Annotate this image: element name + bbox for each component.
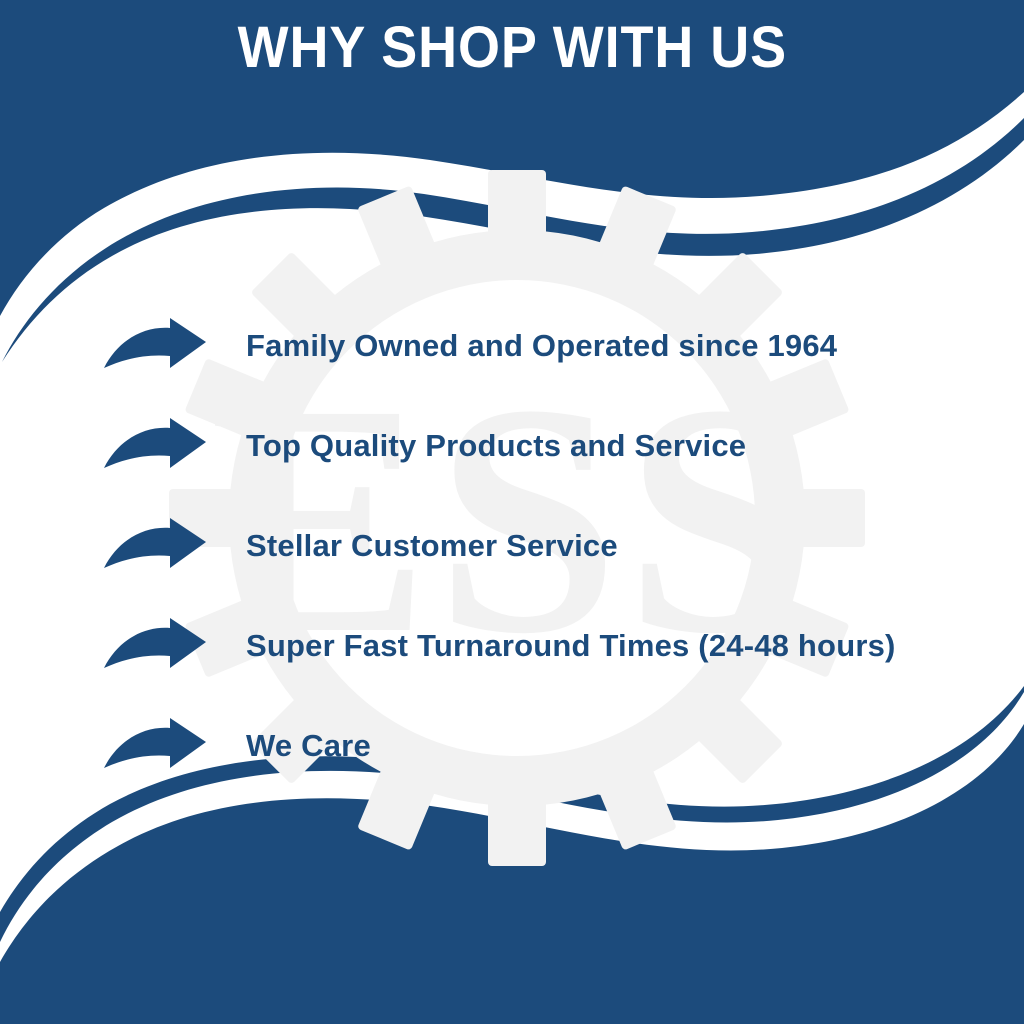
curved-arrow-right-icon [104, 418, 206, 474]
list-item-label: Family Owned and Operated since 1964 [246, 328, 837, 364]
list-item: Top Quality Products and Service [104, 396, 984, 496]
list-item: Super Fast Turnaround Times (24-48 hours… [104, 596, 984, 696]
list-item-label: We Care [246, 728, 371, 764]
promo-banner: ESS WHY SHOP WITH US Family Owned and Op… [0, 0, 1024, 1024]
curved-arrow-right-icon [104, 718, 206, 774]
list-item: We Care [104, 696, 984, 796]
feature-list: Family Owned and Operated since 1964 Top… [104, 296, 984, 796]
header-bar: WHY SHOP WITH US [0, 0, 1024, 96]
list-item: Stellar Customer Service [104, 496, 984, 596]
list-item-label: Super Fast Turnaround Times (24-48 hours… [246, 628, 896, 664]
curved-arrow-right-icon [104, 318, 206, 374]
page-title: WHY SHOP WITH US [237, 19, 786, 77]
curved-arrow-right-icon [104, 518, 206, 574]
list-item: Family Owned and Operated since 1964 [104, 296, 984, 396]
curved-arrow-right-icon [104, 618, 206, 674]
list-item-label: Top Quality Products and Service [246, 428, 746, 464]
list-item-label: Stellar Customer Service [246, 528, 618, 564]
